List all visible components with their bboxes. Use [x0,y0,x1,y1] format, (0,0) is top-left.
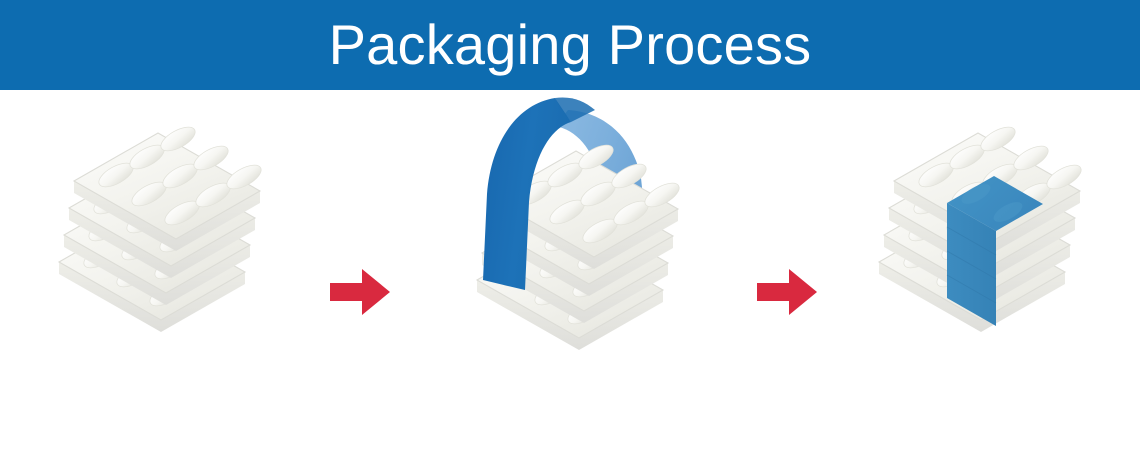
process-arrow-2 [755,266,819,318]
process-stage-2 [455,90,705,450]
packaging-process-infographic: Packaging Process [0,0,1140,450]
process-stage-1 [55,90,285,450]
process-stage-3 [875,90,1105,450]
blister-stack-banded-icon [875,90,1105,450]
blister-stack-banding-icon [455,90,705,450]
arrow-right-icon [755,266,819,318]
process-diagram [0,90,1140,450]
page-title: Packaging Process [329,17,812,73]
blister-stack-plain-icon [55,90,285,450]
arrow-right-icon [328,266,392,318]
process-arrow-1 [328,266,392,318]
header-banner: Packaging Process [0,0,1140,90]
